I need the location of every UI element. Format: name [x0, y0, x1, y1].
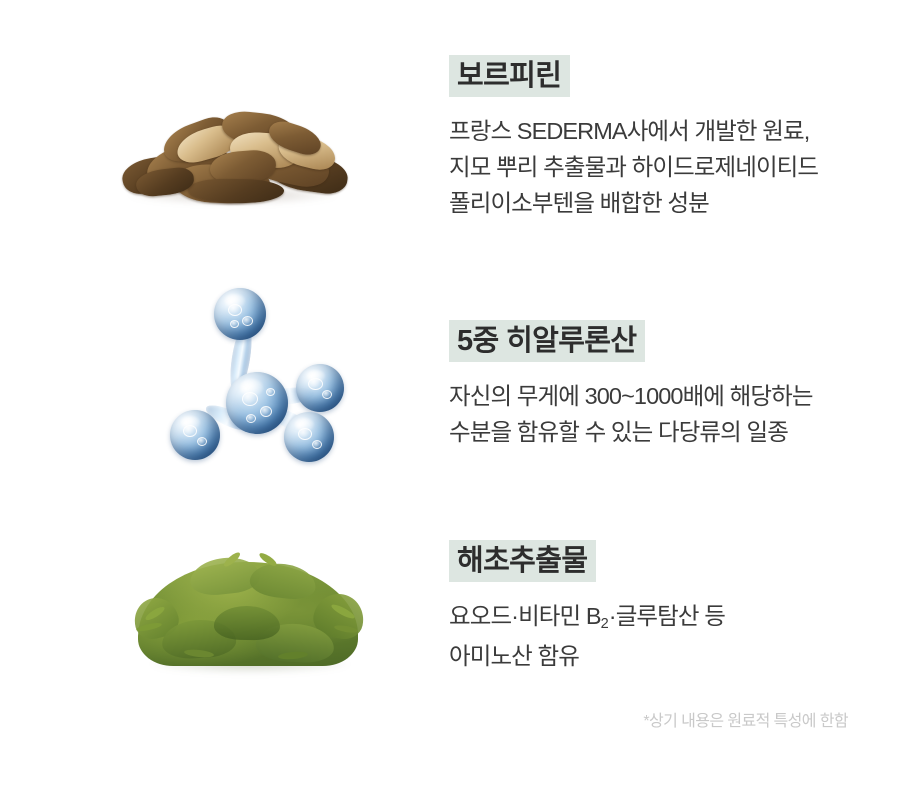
ingredient-title: 5중 히알루론산 [449, 320, 645, 362]
ingredient-title: 해초추출물 [449, 540, 596, 582]
molecule-bubble [230, 320, 239, 328]
ingredient-row-seaweed-extract: 해초추출물 요오드·비타민 B2·글루탐산 등 아미노산 함유 [0, 540, 901, 690]
molecule-atom-top [214, 288, 266, 340]
ingredient-row-borpirin: 보르피린 프랑스 SEDERMA사에서 개발한 원료, 지모 뿌리 추출물과 하… [0, 55, 901, 255]
molecule-atom-bottom-right [284, 412, 334, 462]
description-line: 요오드·비타민 B2·글루탐산 등 [449, 598, 879, 638]
description-line: 프랑스 SEDERMA사에서 개발한 원료, [449, 113, 879, 149]
ingredient-description: 프랑스 SEDERMA사에서 개발한 원료, 지모 뿌리 추출물과 하이드로제네… [449, 113, 879, 221]
ingredient-description: 자신의 무게에 300~1000배에 해당하는 수분을 함유할 수 있는 다당류… [449, 378, 879, 450]
description-line: 수분을 함유할 수 있는 다당류의 일종 [449, 414, 879, 450]
ingredient-infographic-page: 보르피린 프랑스 SEDERMA사에서 개발한 원료, 지모 뿌리 추출물과 하… [0, 0, 901, 801]
molecule-atom-right [296, 364, 344, 412]
footnote-disclaimer: *상기 내용은 원료적 특성에 한함 [643, 707, 848, 731]
ingredient-copy-hyaluronic-acid: 5중 히알루론산 자신의 무게에 300~1000배에 해당하는 수분을 함유할… [449, 320, 879, 450]
green-seaweed-photo [138, 554, 358, 680]
water-molecule-photo [170, 288, 346, 470]
molecule-bubble [308, 378, 323, 390]
ingredient-image-borpirin [0, 55, 430, 255]
molecule-bubble [183, 425, 197, 437]
molecule-bubble [298, 428, 312, 440]
description-line: 폴리이소부텐을 배합한 성분 [449, 185, 879, 221]
ingredient-description: 요오드·비타민 B2·글루탐산 등 아미노산 함유 [449, 598, 879, 674]
ingredient-copy-borpirin: 보르피린 프랑스 SEDERMA사에서 개발한 원료, 지모 뿌리 추출물과 하… [449, 55, 879, 221]
molecule-bubble [266, 388, 275, 396]
molecule-atom-center [226, 372, 288, 434]
description-text-before-subscript: 요오드·비타민 B [449, 603, 601, 629]
molecule-bubble [312, 440, 322, 449]
vitamin-b2-subscript: 2 [601, 616, 609, 632]
molecule-bubble [260, 406, 272, 417]
molecule-bubble [197, 437, 207, 446]
molecule-bubble [242, 316, 253, 326]
description-text-after-subscript: ·글루탐산 등 [609, 603, 725, 629]
description-line: 지모 뿌리 추출물과 하이드로제네이티드 [449, 149, 879, 185]
title-wrap: 해초추출물 [449, 540, 879, 582]
title-wrap: 보르피린 [449, 55, 879, 97]
molecule-atom-bottom-left [170, 410, 220, 460]
title-wrap: 5중 히알루론산 [449, 320, 879, 362]
dried-bark-flakes-photo [118, 107, 348, 207]
molecule-bubble [322, 390, 332, 399]
ingredient-title: 보르피린 [449, 55, 570, 97]
description-line: 아미노산 함유 [449, 638, 879, 674]
ingredient-row-hyaluronic-acid: 5중 히알루론산 자신의 무게에 300~1000배에 해당하는 수분을 함유할… [0, 280, 901, 480]
ingredient-copy-seaweed-extract: 해초추출물 요오드·비타민 B2·글루탐산 등 아미노산 함유 [449, 540, 879, 674]
molecule-bubble [246, 414, 256, 423]
ingredient-image-hyaluronic-acid [0, 280, 430, 480]
description-line: 자신의 무게에 300~1000배에 해당하는 [449, 378, 879, 414]
molecule-bubble [228, 304, 242, 316]
ingredient-image-seaweed-extract [0, 540, 430, 690]
molecule-bubble [242, 392, 258, 406]
